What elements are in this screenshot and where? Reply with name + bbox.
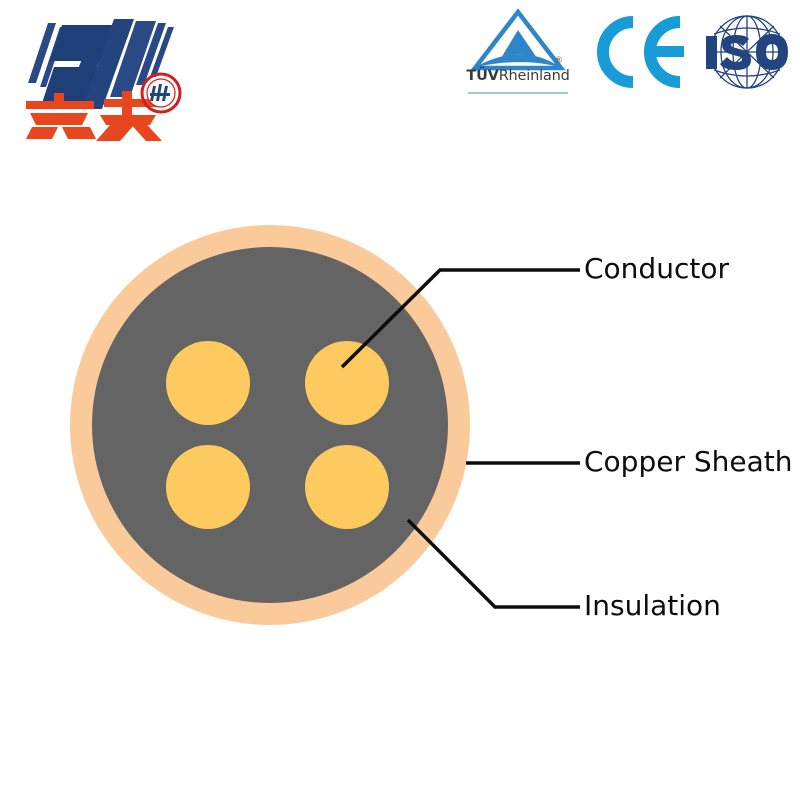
cable-cross-section-diagram: [0, 0, 800, 800]
callout-label-conductor: Conductor: [584, 255, 729, 283]
conductor-bottom-right: [305, 445, 389, 529]
callout-label-insulation: Insulation: [584, 592, 721, 620]
callout-label-copper-sheath: Copper Sheath: [584, 448, 793, 476]
conductor-bottom-left: [166, 445, 250, 529]
conductor-top-right: [305, 341, 389, 425]
insulation-core: [92, 247, 448, 603]
conductor-top-left: [166, 341, 250, 425]
page-root: ® TÜVRheinland: [0, 0, 800, 800]
